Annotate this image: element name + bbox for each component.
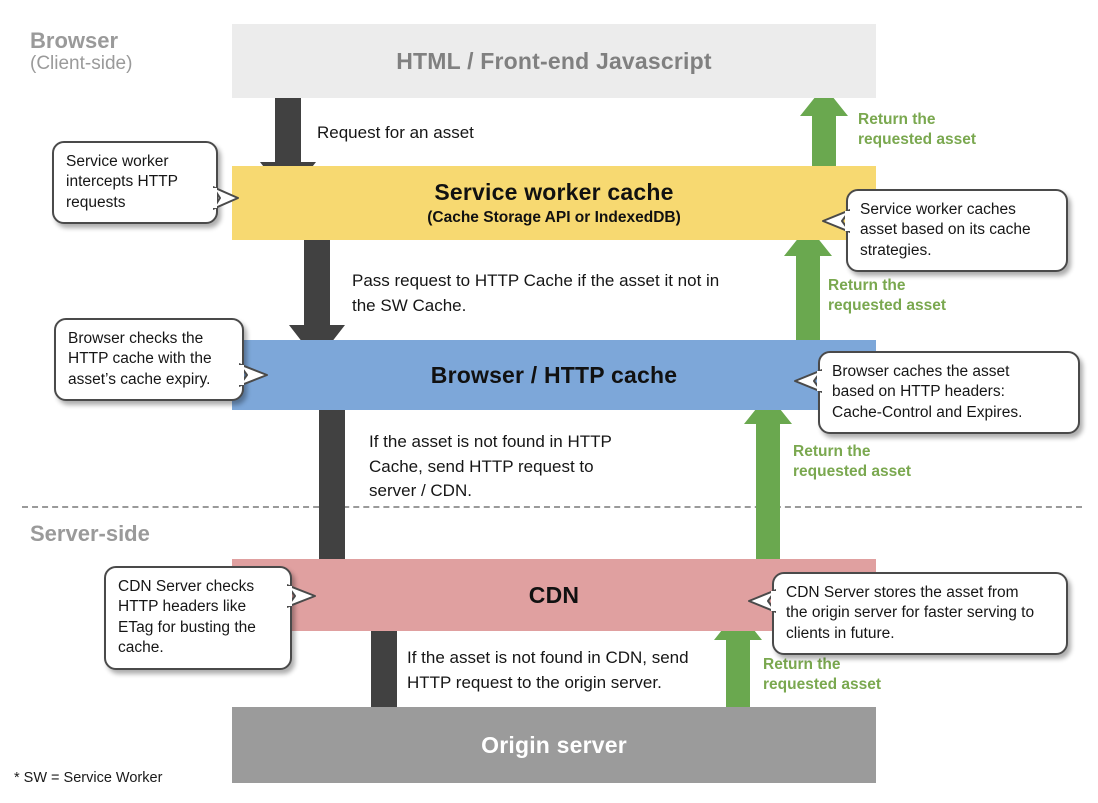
return-label-origin-to-cdn: Return the requested asset [763, 655, 881, 695]
layer-band-http-cache: Browser / HTTP cache [232, 340, 876, 410]
section-heading-browser: Browser (Client-side) [30, 28, 132, 76]
return-arrow-sw-to-html [798, 86, 850, 178]
layer-title-origin-server: Origin server [481, 732, 627, 758]
return-arrow-cdn-to-http [742, 394, 794, 574]
request-label-http-to-cdn: If the asset is not found in HTTP Cache,… [369, 430, 612, 504]
callout-tail-browser-checks-http-cache [239, 362, 269, 388]
callout-service-worker-intercept: Service worker intercepts HTTP requests [52, 141, 218, 224]
layer-title-cdn: CDN [529, 582, 579, 608]
layer-title-service-worker-cache: Service worker cache [434, 179, 673, 205]
callout-tail-service-worker-intercept [213, 185, 239, 211]
layer-subtitle-service-worker-cache: (Cache Storage API or IndexedDB) [427, 208, 681, 227]
callout-tail-service-worker-caches [820, 208, 850, 234]
layer-title-http-cache: Browser / HTTP cache [431, 362, 677, 388]
request-label-sw-to-http: Pass request to HTTP Cache if the asset … [352, 269, 719, 318]
section-heading-server: Server-side [30, 521, 150, 547]
return-label-cdn-to-http: Return the requested asset [793, 442, 911, 482]
request-label-cdn-to-origin: If the asset is not found in CDN, send H… [407, 646, 689, 695]
return-label-sw-to-html: Return the requested asset [858, 110, 976, 150]
diagram-canvas: Browser (Client-side) Server-side HTML /… [0, 0, 1098, 803]
section-heading-browser-line1: Browser [30, 28, 132, 53]
callout-tail-cdn-checks-headers [287, 583, 317, 609]
layer-band-service-worker-cache: Service worker cache (Cache Storage API … [232, 166, 876, 240]
callout-service-worker-caches: Service worker caches asset based on its… [846, 189, 1068, 272]
request-label-html-to-sw: Request for an asset [317, 121, 474, 146]
layer-title-html: HTML / Front-end Javascript [396, 48, 712, 74]
client-server-divider [22, 506, 1082, 508]
footnote-sw-abbreviation: * SW = Service Worker [14, 770, 162, 786]
layer-band-origin-server: Origin server [232, 707, 876, 783]
layer-band-html: HTML / Front-end Javascript [232, 24, 876, 98]
callout-tail-cdn-stores-asset [746, 588, 776, 614]
return-label-http-to-sw: Return the requested asset [828, 276, 946, 316]
callout-cdn-checks-headers: CDN Server checks HTTP headers like ETag… [104, 566, 292, 670]
callout-tail-browser-caches-asset [792, 368, 822, 394]
section-heading-browser-line2: (Client-side) [30, 53, 132, 76]
callout-cdn-stores-asset: CDN Server stores the asset from the ori… [772, 572, 1068, 655]
callout-browser-caches-asset: Browser caches the asset based on HTTP h… [818, 351, 1080, 434]
return-arrow-http-to-sw [782, 226, 834, 346]
callout-browser-checks-http-cache: Browser checks the HTTP cache with the a… [54, 318, 244, 401]
